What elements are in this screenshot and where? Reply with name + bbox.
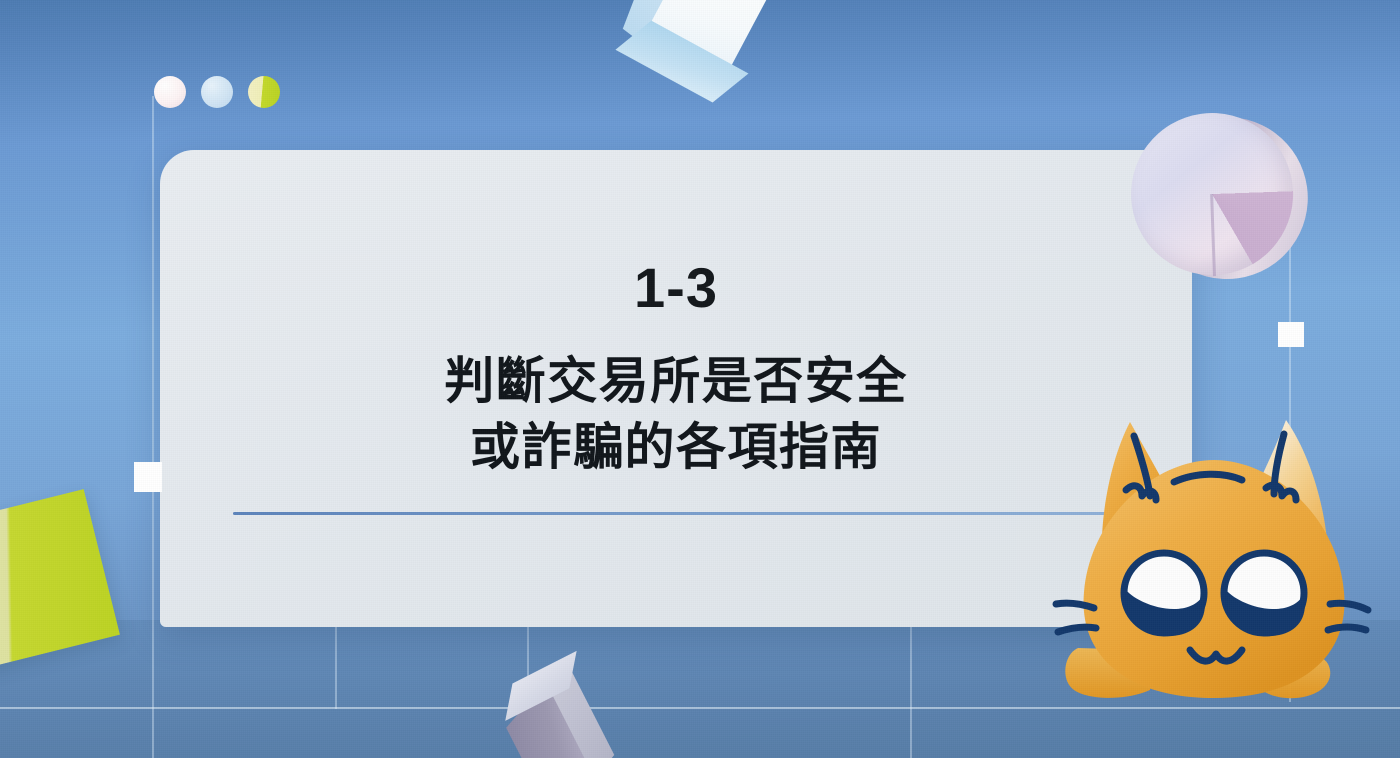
cat-eye-right [1224,553,1305,636]
slide-title-line-2: 或詐騙的各項指南 [444,414,908,480]
pie-disc-3d-icon [1121,101,1320,300]
grid-line-vertical-1 [152,96,154,758]
cat-eye-left [1124,553,1205,636]
decorative-dot-light-blue [201,76,233,108]
cube-3d-icon [604,0,785,127]
white-square-left [134,462,162,492]
slide-stage: 1-3 判斷交易所是否安全 或詐騙的各項指南 [0,0,1400,758]
white-square-right [1278,322,1304,347]
decorative-dot-yellow-green [248,76,280,108]
slide-number: 1-3 [634,260,718,316]
decorative-dot-white-pink [154,76,186,108]
slide-title: 判斷交易所是否安全 或詐騙的各項指南 [444,348,908,480]
sleepy-cat-character [1038,398,1400,758]
grid-line-vertical-4 [910,625,912,758]
grid-line-vertical-2 [335,625,337,709]
slide-title-line-1: 判斷交易所是否安全 [444,348,908,414]
title-divider [233,512,1119,515]
